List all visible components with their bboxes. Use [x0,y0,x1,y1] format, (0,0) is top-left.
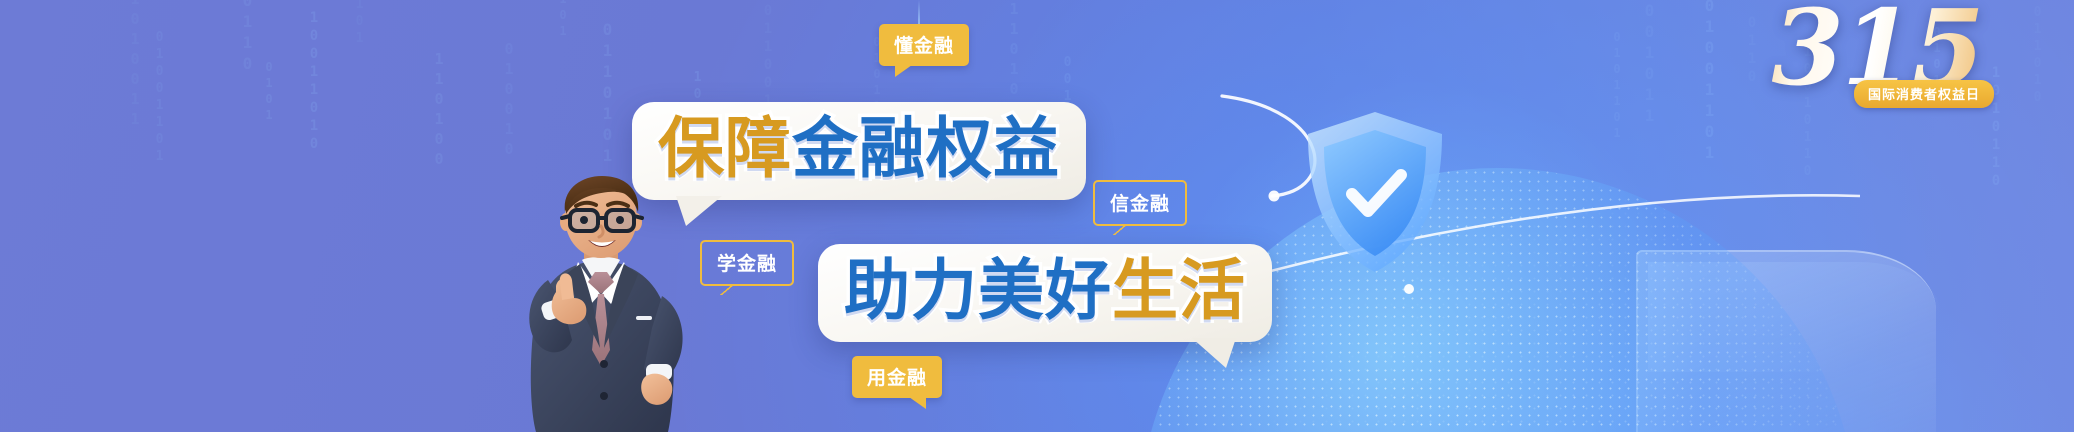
tag-dong-jinrong[interactable]: 懂金融 [879,24,969,66]
binary-column: 101001101 [1700,0,1719,164]
tag-xue-jinrong[interactable]: 学金融 [700,240,794,286]
headline-2-blue-text: 助力美好 [844,252,1112,329]
glow-blob-right [1380,250,2074,432]
tag-stalk [918,0,920,26]
binary-column: 10110 [238,0,257,75]
headline-2-bubble: 助力美好生活 [818,244,1272,342]
binary-column: 1001011 [1640,0,1659,127]
banner-315-financial-rights: 1010011010011011011001011001101011010100… [0,0,2074,432]
tag-yong-jinrong[interactable]: 用金融 [852,356,942,398]
businessman-thumbs-up-icon [496,168,712,432]
binary-column: 0110101 [598,20,617,167]
binary-column: 10101 [556,0,570,40]
tag-xin-jinrong[interactable]: 信金融 [1093,180,1187,226]
binary-column: 10011010 [306,10,322,154]
shield-check-icon [1300,108,1450,278]
pedestal-shape [1636,250,1936,432]
binary-column: 01001101 [152,30,167,166]
binary-column: 110100 [430,50,448,170]
binary-column: 1101 [352,0,367,48]
headline-2-gold-text: 生活 [1112,252,1246,329]
binary-column: 010010 [500,40,518,160]
logo-315: 315 国际消费者权益日 [1742,0,2012,114]
binary-column: 0101 [262,60,276,124]
binary-column: 1010011 [126,0,144,130]
binary-column: 011010 [2030,5,2045,107]
binary-column: 11010 [1005,0,1023,100]
logo-315-subtitle: 国际消费者权益日 [1854,80,1994,108]
headline-1-blue-text: 金融权益 [792,110,1060,187]
binary-column: 0101101 [1610,30,1624,142]
